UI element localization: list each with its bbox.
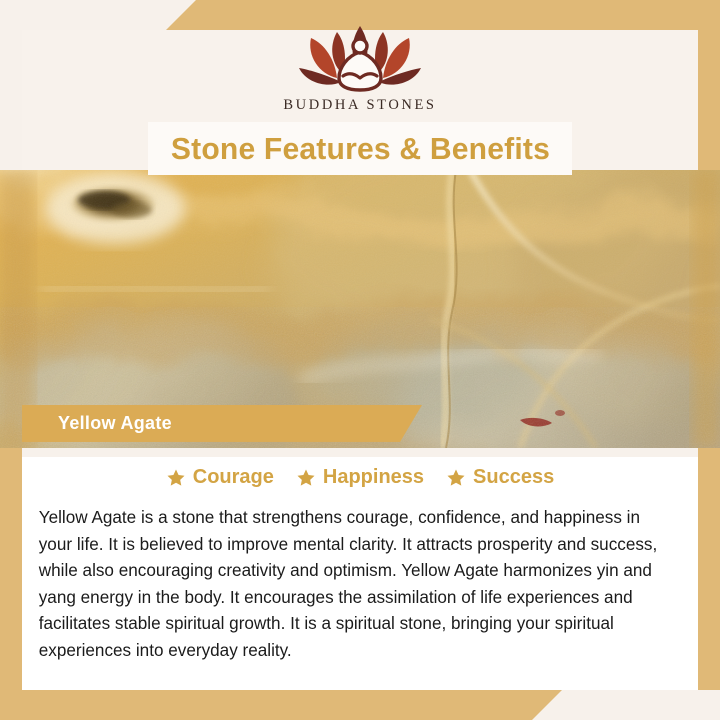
brand-logo: BUDDHA STONES — [0, 26, 720, 124]
gold-border-left — [0, 440, 22, 720]
benefit-item-courage: Courage — [166, 466, 274, 489]
stone-description: Yellow Agate is a stone that strengthens… — [22, 504, 688, 663]
star-icon — [296, 468, 316, 488]
brand-wordmark: BUDDHA STONES — [283, 97, 436, 114]
benefits-row: Courage Happiness Success — [22, 466, 698, 489]
gold-border-bottom — [0, 690, 720, 720]
benefit-item-happiness: Happiness — [296, 466, 424, 489]
section-title-card: Stone Features & Benefits — [148, 122, 572, 175]
star-icon — [446, 468, 466, 488]
content-panel: Courage Happiness Success Yellow Agate i… — [22, 448, 698, 690]
stone-name-banner: Yellow Agate — [22, 405, 422, 442]
page-title: Stone Features & Benefits — [170, 131, 549, 167]
benefit-label: Courage — [193, 466, 274, 489]
star-icon — [166, 468, 186, 488]
panel-top-strip — [22, 448, 698, 457]
stone-name: Yellow Agate — [58, 413, 172, 434]
benefit-label: Success — [473, 466, 554, 489]
product-info-card: BUDDHA STONES Stone Features & Benefits — [0, 0, 720, 720]
benefit-label: Happiness — [323, 466, 424, 489]
lotus-meditation-icon — [285, 26, 435, 92]
benefit-item-success: Success — [446, 466, 554, 489]
